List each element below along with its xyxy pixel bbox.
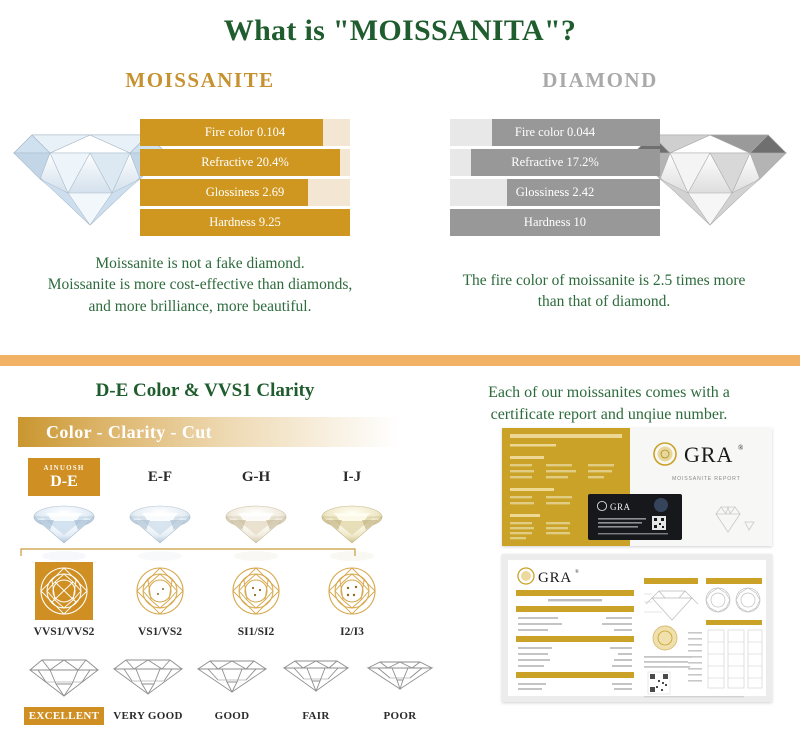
- bar-label: Hardness 9.25: [140, 215, 350, 230]
- color-clarity-cut-label: Color - Clarity - Cut: [18, 422, 212, 443]
- cut-grade-item[interactable]: VERY GOOD: [106, 654, 190, 725]
- bar-row: Fire color 0.104: [140, 119, 350, 146]
- clarity-diamond-icon: [231, 566, 281, 616]
- cut-label: GOOD: [210, 707, 255, 725]
- bar-row: Hardness 9.25: [140, 209, 350, 236]
- bar-row: Refractive 17.2%: [450, 149, 660, 176]
- bar-label: Refractive 17.2%: [450, 155, 660, 170]
- bar-label: Fire color 0.104: [140, 125, 350, 140]
- clarity-icon-box: [131, 562, 189, 620]
- diamond-top-view-icon: [216, 500, 296, 546]
- clarity-icon-box: [227, 562, 285, 620]
- cut-profile-icon: [192, 654, 272, 698]
- moissanite-gem-bars: Fire color 0.104 Refractive 20.4% Glossi…: [0, 115, 400, 237]
- infographic-page: What is "MOISSANITA"? MOISSANITE: [0, 0, 800, 734]
- color-grade-label: I-J: [304, 458, 400, 496]
- moissanite-bar-list: Fire color 0.104 Refractive 20.4% Glossi…: [140, 119, 350, 239]
- grading-subtitle: D-E Color & VVS1 Clarity: [0, 366, 410, 402]
- moissanite-heading: MOISSANITE: [0, 68, 400, 93]
- moissanite-column: MOISSANITE: [0, 68, 400, 237]
- cut-label: FAIR: [297, 707, 334, 725]
- bar-label: Hardness 10: [450, 215, 660, 230]
- bar-row: Hardness 10: [450, 209, 660, 236]
- gra-certificate-cover-image: GRA ® MOISSANITE REPORT GRA: [502, 428, 772, 546]
- bar-label: Glossiness 2.42: [450, 185, 660, 200]
- svg-text:GRA: GRA: [684, 442, 733, 467]
- diamond-caption: The fire color of moissanite is 2.5 time…: [400, 253, 800, 317]
- certificate-heading: Each of our moissanites comes with a cer…: [410, 366, 800, 425]
- svg-text:GRA: GRA: [538, 570, 572, 586]
- color-clarity-cut-bar: Color - Clarity - Cut: [18, 417, 398, 447]
- svg-text:®: ®: [738, 444, 744, 452]
- diamond-top-view-icon: [24, 500, 104, 546]
- cut-profile-icon: [24, 654, 104, 698]
- bar-label: Fire color 0.044: [450, 125, 660, 140]
- clarity-grade-item[interactable]: VVS1/VVS2: [16, 562, 112, 638]
- clarity-label: I2/I3: [304, 626, 400, 638]
- gra-report-document-image: GRA ®: [502, 554, 772, 702]
- bar-label: Refractive 20.4%: [140, 155, 350, 170]
- diamond-bar-list: Fire color 0.044 Refractive 17.2% Glossi…: [450, 119, 660, 239]
- diamond-heading: DIAMOND: [400, 68, 800, 93]
- clarity-grade-item[interactable]: I2/I3: [304, 562, 400, 638]
- cut-grade-item[interactable]: EXCELLENT: [22, 654, 106, 725]
- diamond-gem-bars: Fire color 0.044 Refractive 17.2% Glossi…: [400, 115, 800, 237]
- bar-row: Glossiness 2.69: [140, 179, 350, 206]
- diamond-top-view-icon: [312, 500, 392, 546]
- clarity-icon-box: [323, 562, 381, 620]
- clarity-diamond-icon: [39, 566, 89, 616]
- clarity-grade-item[interactable]: SI1/SI2: [208, 562, 304, 638]
- cut-profile-icon: [276, 654, 356, 698]
- cut-profile-icon: [108, 654, 188, 698]
- page-title: What is "MOISSANITA"?: [0, 0, 800, 48]
- cut-grade-row: EXCELLENT VERY GOOD: [0, 654, 460, 734]
- bar-row: Fire color 0.044: [450, 119, 660, 146]
- grading-left-panel: D-E Color & VVS1 Clarity Color - Clarity…: [0, 366, 410, 734]
- bar-row: Glossiness 2.42: [450, 179, 660, 206]
- clarity-label: VS1/VS2: [112, 626, 208, 638]
- svg-text:®: ®: [575, 569, 579, 575]
- bar-row: Refractive 20.4%: [140, 149, 350, 176]
- certificate-right-panel: Each of our moissanites comes with a cer…: [410, 366, 800, 734]
- section-divider: [0, 355, 800, 366]
- svg-text:GRA: GRA: [610, 502, 631, 512]
- color-grade-label: G-H: [208, 458, 304, 496]
- clarity-highlight-box: [35, 562, 93, 620]
- cut-label: VERY GOOD: [108, 707, 187, 725]
- bar-label: Glossiness 2.69: [140, 185, 350, 200]
- cut-grade-item[interactable]: FAIR: [274, 654, 358, 725]
- diamond-column: DIAMOND: [400, 68, 800, 237]
- caption-row: Moissanite is not a fake diamond. Moissa…: [0, 253, 800, 317]
- grading-section: D-E Color & VVS1 Clarity Color - Clarity…: [0, 366, 800, 734]
- clarity-label: VVS1/VVS2: [16, 626, 112, 638]
- cut-label: EXCELLENT: [24, 707, 105, 725]
- color-grade-row: AINUOSH D-E: [0, 458, 410, 576]
- moissanite-caption: Moissanite is not a fake diamond. Moissa…: [0, 253, 400, 317]
- color-grade-label: E-F: [112, 458, 208, 496]
- clarity-diamond-icon: [327, 566, 377, 616]
- clarity-grade-row: VVS1/VVS2: [0, 562, 410, 652]
- grade-baseline: [20, 548, 356, 557]
- clarity-label: SI1/SI2: [208, 626, 304, 638]
- clarity-diamond-icon: [135, 566, 185, 616]
- svg-text:MOISSANITE REPORT: MOISSANITE REPORT: [672, 476, 741, 482]
- clarity-grade-item[interactable]: VS1/VS2: [112, 562, 208, 638]
- diamond-top-view-icon: [120, 500, 200, 546]
- comparison-section: MOISSANITE: [0, 68, 800, 237]
- color-grade-badge: AINUOSH D-E: [28, 458, 100, 496]
- brand-label: AINUOSH: [43, 465, 84, 472]
- color-grade-label: D-E: [50, 474, 78, 490]
- cut-grade-item[interactable]: GOOD: [190, 654, 274, 725]
